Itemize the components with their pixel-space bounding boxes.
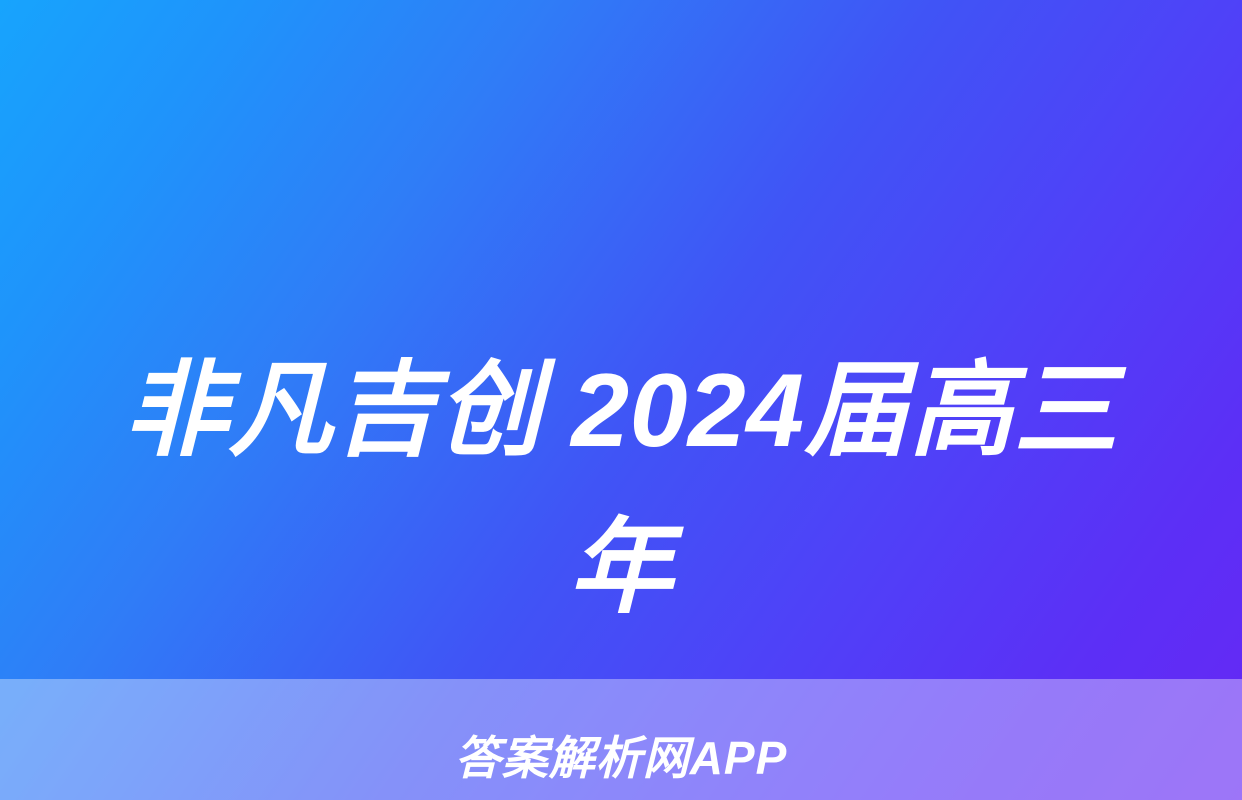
cover-banner: 非凡吉创 2024届高三年 级TOP二十名校冲刺一试 题(语文 答案解析网APP xyxy=(0,0,1242,800)
page-title-line-1: 非凡吉创 2024届高三年 xyxy=(0,333,1242,647)
footer-banner: 答案解析网APP xyxy=(0,679,1242,800)
app-watermark-label: 答案解析网APP xyxy=(455,735,788,781)
